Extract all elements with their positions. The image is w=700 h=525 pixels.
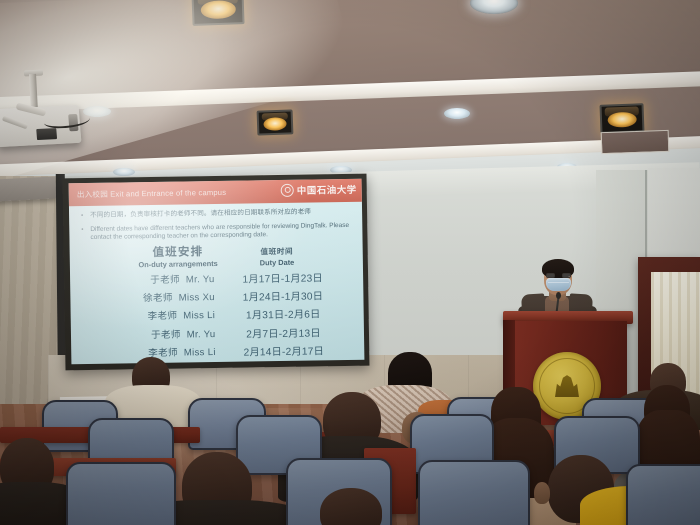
- round-downlight-icon: [113, 168, 135, 176]
- col2-header-en: Duty Date: [260, 258, 295, 268]
- university-seal-icon: [281, 183, 294, 196]
- slide-bullet-en: • Different dates have different teacher…: [81, 222, 350, 243]
- table-row: 于老师 Mr. Yu 1月17日-1月23日: [82, 269, 351, 288]
- bullet-marker: •: [81, 212, 85, 221]
- duty-date: 2月14日-2月17日: [230, 342, 338, 359]
- bullet-text-en: Different dates have different teachers …: [90, 222, 350, 243]
- table-row: 于老师 Mr. Yu 2月7日-2月13日: [83, 323, 352, 342]
- duty-date: 1月31日-2月6日: [229, 305, 337, 322]
- emblem-glyph: [555, 375, 579, 397]
- auditorium-seat[interactable]: [626, 464, 700, 525]
- duty-date: 2月7日-2月13日: [229, 324, 337, 341]
- duty-date: 1月17日-1月23日: [228, 269, 336, 286]
- table-col2-header: 值班时间 Duty Date: [259, 245, 294, 268]
- auditorium-seat[interactable]: [66, 462, 176, 525]
- slide-bullet-cn: • 不同的日期，负责审核打卡的老师不同。请在相应的日期联系所对应的老师: [81, 208, 350, 221]
- microphone-head: [556, 292, 561, 299]
- slide-body: • 不同的日期，负责审核打卡的老师不同。请在相应的日期联系所对应的老师 • Di…: [69, 202, 364, 361]
- square-downlight-icon: [257, 109, 294, 135]
- round-downlight-icon: [444, 108, 470, 119]
- duty-date: 1月24日-1月30日: [229, 287, 337, 304]
- bullet-text-cn: 不同的日期，负责审核打卡的老师不同。请在相应的日期联系所对应的老师: [90, 209, 311, 221]
- slide-header-title: 出入校园 Exit and Entrance of the campus: [69, 187, 227, 200]
- table-row: 徐老师 Miss Xu 1月24日-1月30日: [82, 287, 351, 306]
- lecture-hall-photo: 出入校园 Exit and Entrance of the campus 中国石…: [0, 0, 700, 525]
- col2-header-cn: 值班时间: [259, 245, 294, 259]
- projector-vent: [36, 128, 57, 140]
- table-header-row: 值班安排 On-duty arrangements 值班时间 Duty Date: [82, 244, 351, 270]
- ceiling-access-panel: [601, 130, 670, 154]
- duty-teacher: 李老师 Miss Li: [97, 307, 215, 324]
- lamp-glow: [607, 112, 636, 128]
- duty-roster-table: 值班安排 On-duty arrangements 值班时间 Duty Date…: [82, 244, 353, 361]
- table-row: 李老师 Miss Li 1月31日-2月6日: [83, 305, 352, 324]
- university-logo-text: 中国石油大学: [297, 182, 357, 197]
- university-logo: 中国石油大学: [281, 182, 357, 197]
- table-col1-header: 值班安排 On-duty arrangements: [138, 246, 218, 269]
- auditorium-seat[interactable]: [418, 460, 530, 525]
- duty-teacher: 徐老师 Miss Xu: [97, 289, 215, 306]
- surgical-mask: [546, 278, 571, 291]
- square-downlight-icon: [600, 103, 645, 134]
- col1-header-en: On-duty arrangements: [138, 259, 217, 269]
- table-row: 李老师 Miss Li 2月14日-2月17日: [83, 342, 352, 361]
- square-downlight-icon: [191, 0, 244, 26]
- duty-teacher: 于老师 Mr. Yu: [97, 271, 215, 288]
- audience-ear: [534, 482, 550, 504]
- duty-teacher: 于老师 Mr. Yu: [97, 326, 215, 343]
- wall-speaker: [0, 176, 57, 201]
- projection-screen[interactable]: 出入校园 Exit and Entrance of the campus 中国石…: [69, 179, 365, 365]
- lamp-glow: [200, 0, 235, 19]
- lamp-glow: [263, 117, 286, 131]
- bullet-marker: •: [81, 226, 85, 243]
- col1-header-cn: 值班安排: [138, 246, 217, 260]
